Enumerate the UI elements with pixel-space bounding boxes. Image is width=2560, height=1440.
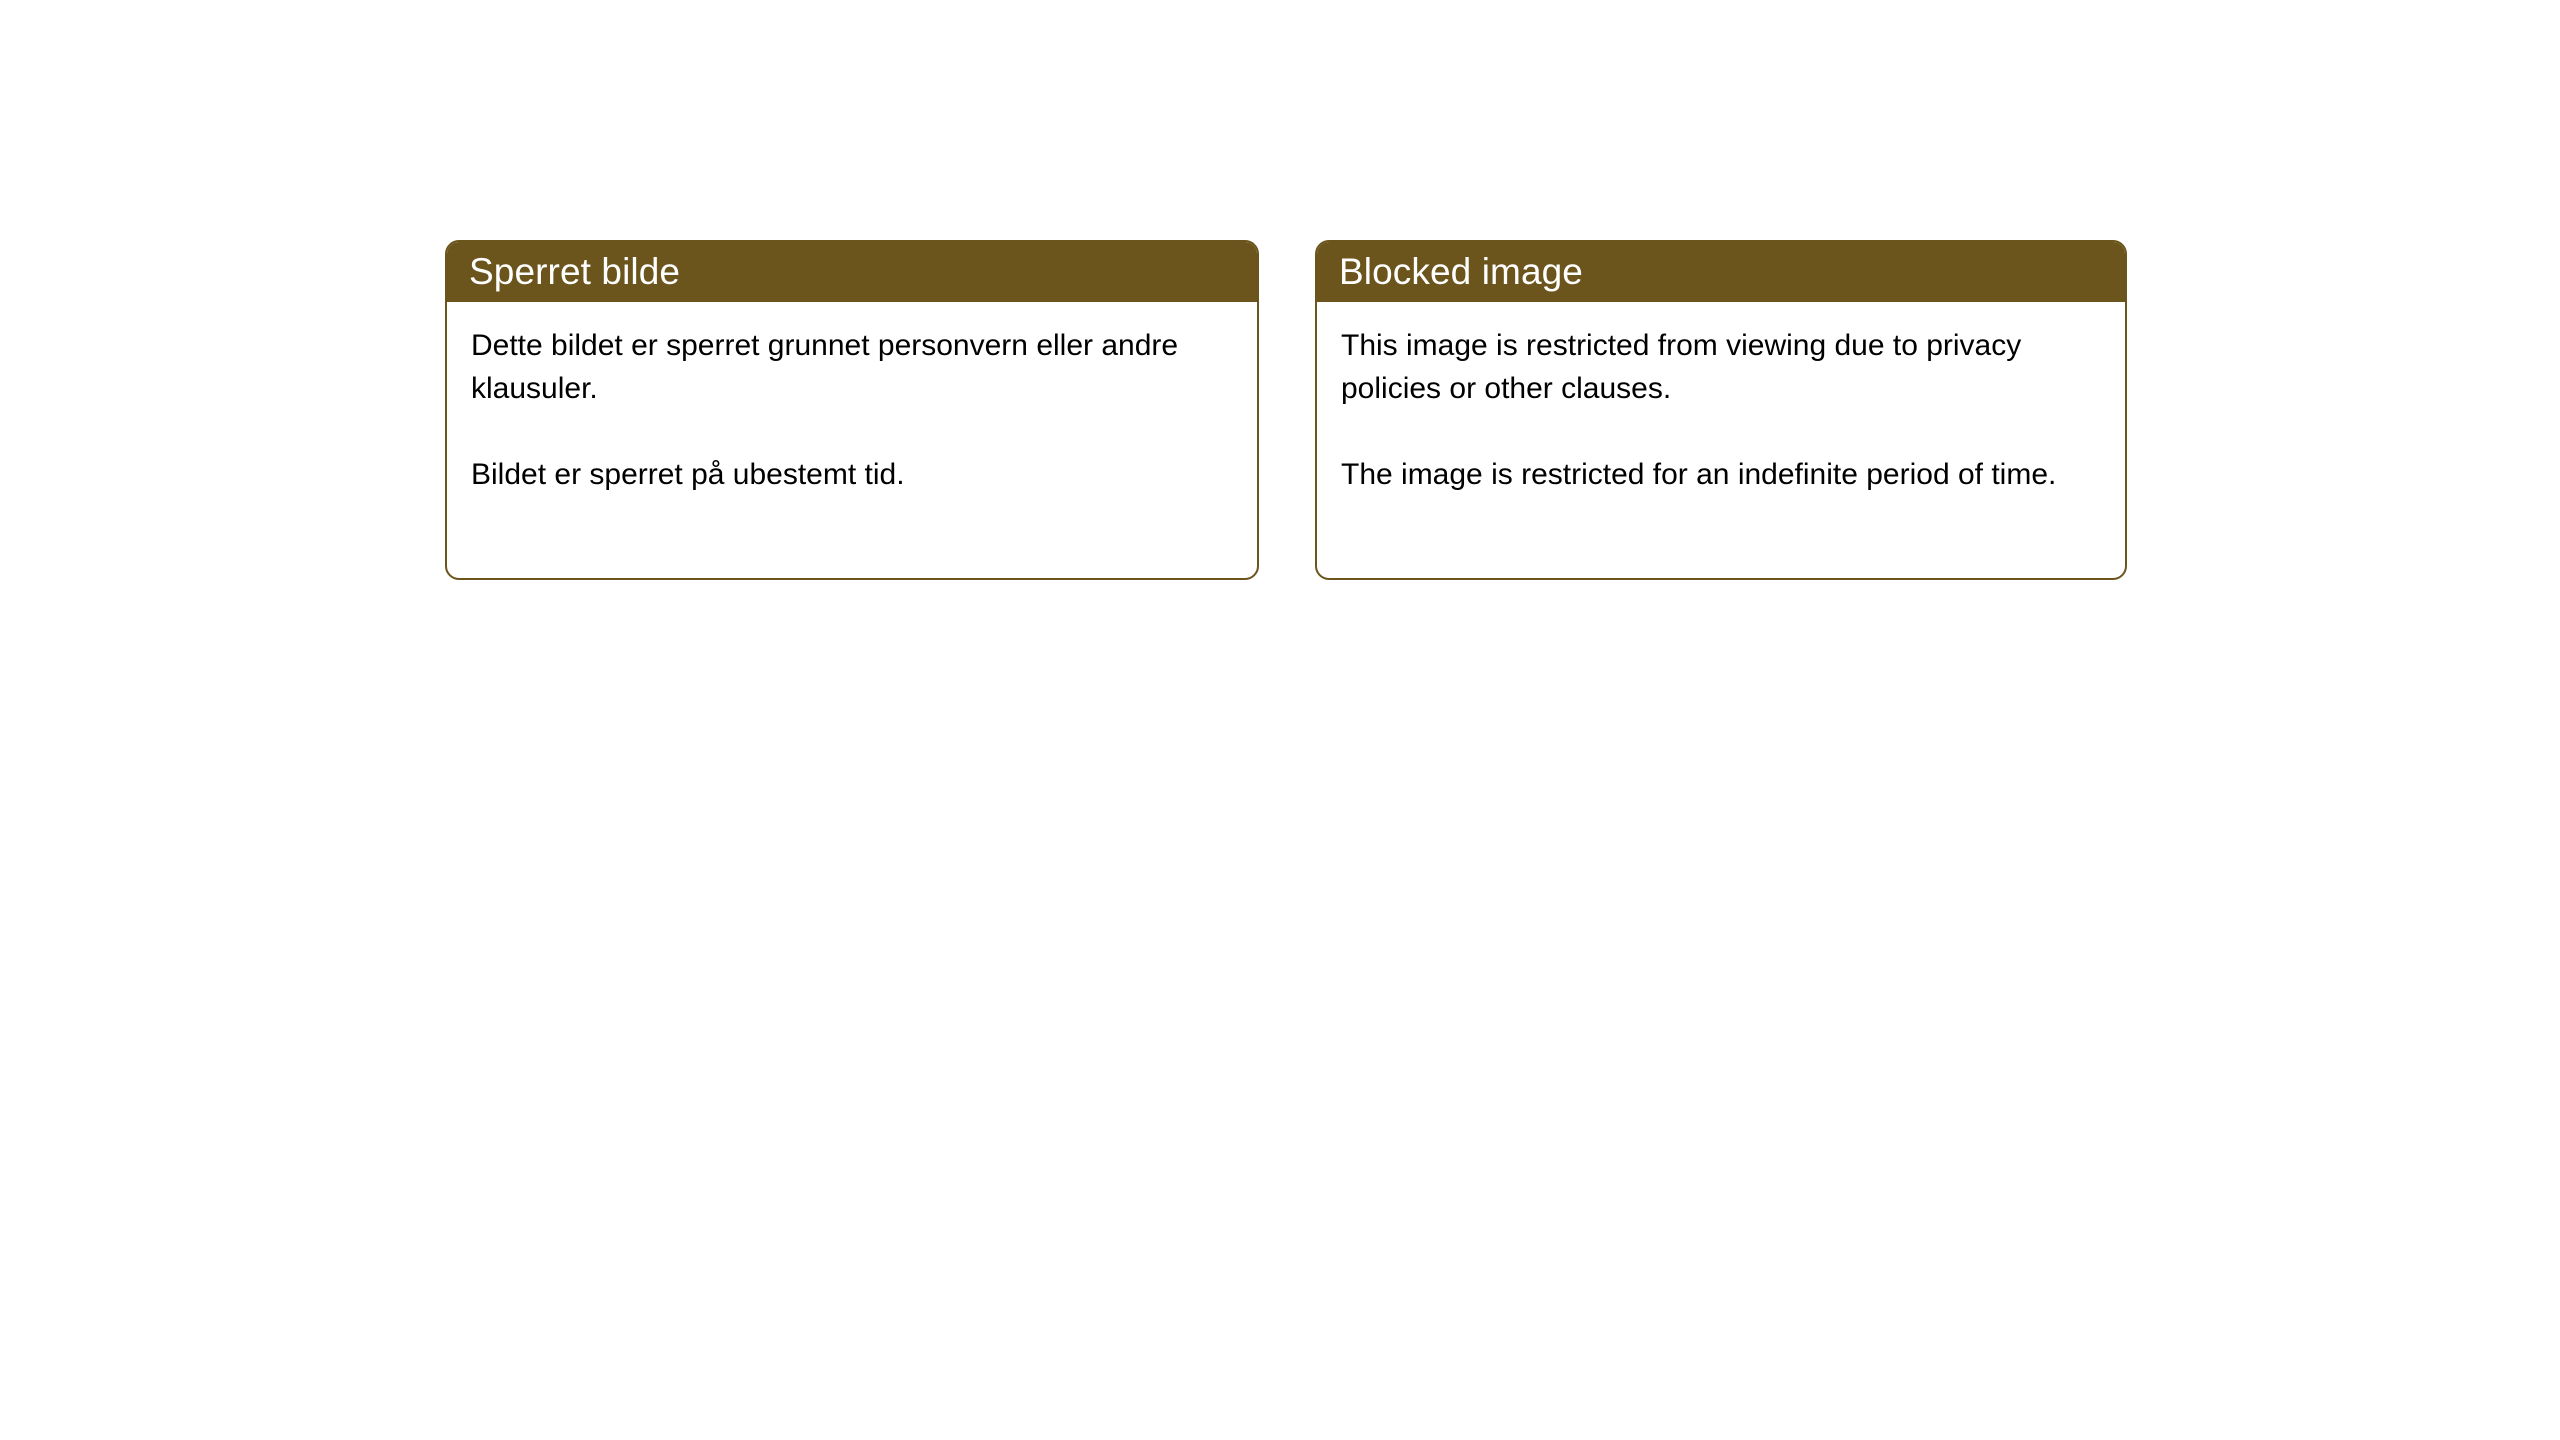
blocked-image-card-en: Blocked image This image is restricted f… (1315, 240, 2127, 580)
card-body-no: Dette bildet er sperret grunnet personve… (447, 302, 1257, 496)
card-title-en: Blocked image (1339, 253, 1583, 290)
card-paragraph-duration-en: The image is restricted for an indefinit… (1341, 453, 2099, 496)
card-body-en: This image is restricted from viewing du… (1317, 302, 2125, 496)
card-paragraph-reason-en: This image is restricted from viewing du… (1341, 324, 2099, 410)
blocked-image-card-no: Sperret bilde Dette bildet er sperret gr… (445, 240, 1259, 580)
card-paragraph-reason-no: Dette bildet er sperret grunnet personve… (471, 324, 1231, 410)
card-paragraph-duration-no: Bildet er sperret på ubestemt tid. (471, 453, 1231, 496)
card-header-no: Sperret bilde (445, 240, 1259, 302)
card-title-no: Sperret bilde (469, 253, 680, 290)
card-header-en: Blocked image (1315, 240, 2127, 302)
page-root: Sperret bilde Dette bildet er sperret gr… (0, 0, 2560, 1440)
